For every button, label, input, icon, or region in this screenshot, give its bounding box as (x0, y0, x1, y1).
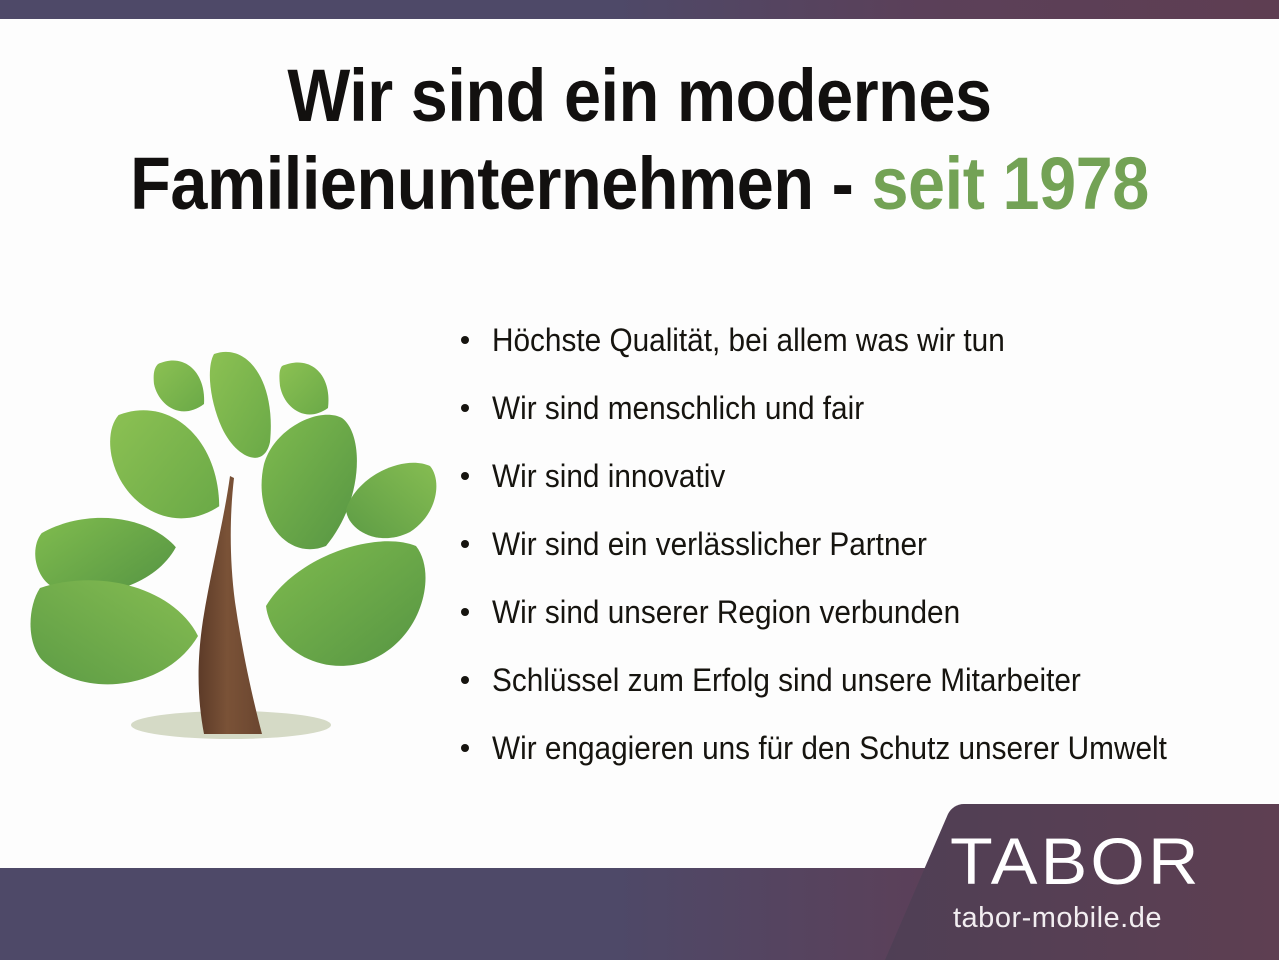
leaf-top-small (154, 360, 204, 411)
list-item: Schlüssel zum Erfolg sind unsere Mitarbe… (455, 646, 1265, 714)
list-item: Wir sind ein verlässlicher Partner (455, 510, 1265, 578)
bullet-dot-icon (461, 744, 469, 752)
bullet-dot-icon (461, 404, 469, 412)
headline-line-1: Wir sind ein modernes (64, 52, 1215, 140)
bullet-label: Wir engagieren uns für den Schutz unsere… (492, 730, 1167, 766)
list-item: Wir sind menschlich und fair (455, 374, 1265, 442)
headline-line-2-prefix: Familienunternehmen - (130, 142, 871, 225)
bullet-dot-icon (461, 472, 469, 480)
brand-logo-badge: TABOR tabor-mobile.de (880, 804, 1279, 960)
headline-line-2: Familienunternehmen - seit 1978 (64, 140, 1215, 228)
bullet-dot-icon (461, 540, 469, 548)
badge-shape (885, 804, 1279, 960)
bullet-label: Wir sind innovativ (492, 458, 725, 494)
leaf-upper-left (108, 405, 220, 523)
headline-accent-year: seit 1978 (871, 142, 1148, 225)
leaf-top-center (210, 352, 271, 458)
bullet-dot-icon (461, 608, 469, 616)
leaf-right-big (266, 541, 426, 666)
tree-illustration (26, 330, 446, 760)
list-item: Wir sind unserer Region verbunden (455, 578, 1265, 646)
bullet-dot-icon (461, 676, 469, 684)
slide-canvas: Wir sind ein modernes Familienunternehme… (0, 0, 1279, 960)
leaf-upper-right (262, 415, 357, 550)
bullet-label: Wir sind ein verlässlicher Partner (492, 526, 927, 562)
leaf-right-mid (346, 463, 436, 538)
bullet-label: Höchste Qualität, bei allem was wir tun (492, 322, 1005, 358)
list-item: Wir engagieren uns für den Schutz unsere… (455, 714, 1265, 782)
bullet-label: Wir sind menschlich und fair (492, 390, 864, 426)
list-item: Wir sind innovativ (455, 442, 1265, 510)
value-bullet-list: Höchste Qualität, bei allem was wir tun … (455, 306, 1265, 782)
top-brand-bar (0, 0, 1279, 19)
leaf-top-right (279, 362, 328, 414)
bullet-label: Wir sind unserer Region verbunden (492, 594, 960, 630)
page-title: Wir sind ein modernes Familienunternehme… (64, 52, 1215, 228)
list-item: Höchste Qualität, bei allem was wir tun (455, 306, 1265, 374)
tree-trunk (199, 476, 262, 734)
leaf-left-big (31, 580, 199, 684)
bullet-label: Schlüssel zum Erfolg sind unsere Mitarbe… (492, 662, 1081, 698)
bullet-dot-icon (461, 336, 469, 344)
